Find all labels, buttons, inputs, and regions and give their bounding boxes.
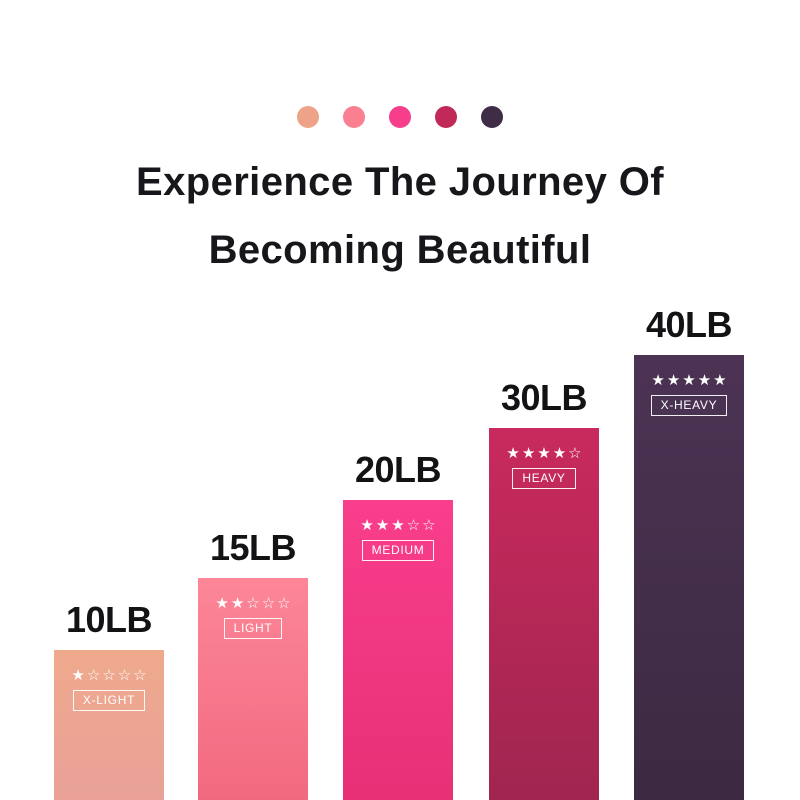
bar-group[interactable]: 30LB★★★★☆HEAVY — [489, 428, 599, 800]
bar-group[interactable]: 15LB★★☆☆☆LIGHT — [198, 578, 308, 800]
resistance-badge: X-LIGHT — [73, 690, 145, 711]
star-empty-icon: ☆ — [87, 668, 100, 683]
star-empty-icon: ☆ — [407, 518, 420, 533]
star-empty-icon: ☆ — [118, 668, 131, 683]
star-filled-icon: ★ — [682, 373, 695, 388]
star-filled-icon: ★ — [522, 446, 535, 461]
star-filled-icon: ★ — [553, 446, 566, 461]
star-filled-icon: ★ — [360, 518, 373, 533]
bar-content: ★☆☆☆☆X-LIGHT — [54, 668, 164, 711]
star-empty-icon: ☆ — [246, 596, 259, 611]
star-empty-icon: ☆ — [133, 668, 146, 683]
bar-value-label: 20LB — [343, 452, 453, 500]
bar-content: ★★★☆☆MEDIUM — [343, 518, 453, 561]
bar-content: ★★★★★X-HEAVY — [634, 373, 744, 416]
star-rating: ★☆☆☆☆ — [71, 668, 146, 683]
star-empty-icon: ☆ — [422, 518, 435, 533]
resistance-badge: X-HEAVY — [651, 395, 728, 416]
star-filled-icon: ★ — [506, 446, 519, 461]
star-filled-icon: ★ — [71, 668, 84, 683]
bar-value-label: 10LB — [54, 602, 164, 650]
star-filled-icon: ★ — [215, 596, 228, 611]
star-filled-icon: ★ — [667, 373, 680, 388]
resistance-badge: HEAVY — [512, 468, 575, 489]
star-empty-icon: ☆ — [568, 446, 581, 461]
bar-group[interactable]: 10LB★☆☆☆☆X-LIGHT — [54, 650, 164, 800]
star-filled-icon: ★ — [537, 446, 550, 461]
resistance-badge: LIGHT — [224, 618, 283, 639]
star-rating: ★★☆☆☆ — [215, 596, 290, 611]
bar-rect: ★★★★☆HEAVY — [489, 428, 599, 800]
bar-group[interactable]: 20LB★★★☆☆MEDIUM — [343, 500, 453, 800]
star-empty-icon: ☆ — [277, 596, 290, 611]
star-filled-icon: ★ — [231, 596, 244, 611]
star-filled-icon: ★ — [376, 518, 389, 533]
star-filled-icon: ★ — [698, 373, 711, 388]
star-filled-icon: ★ — [651, 373, 664, 388]
star-rating: ★★★★☆ — [506, 446, 581, 461]
bar-rect: ★☆☆☆☆X-LIGHT — [54, 650, 164, 800]
resistance-badge: MEDIUM — [362, 540, 435, 561]
star-empty-icon: ☆ — [262, 596, 275, 611]
bar-rect: ★★☆☆☆LIGHT — [198, 578, 308, 800]
bar-group[interactable]: 40LB★★★★★X-HEAVY — [634, 355, 744, 800]
bar-rect: ★★★☆☆MEDIUM — [343, 500, 453, 800]
bar-content: ★★☆☆☆LIGHT — [198, 596, 308, 639]
star-empty-icon: ☆ — [102, 668, 115, 683]
bar-value-label: 30LB — [489, 380, 599, 428]
star-filled-icon: ★ — [391, 518, 404, 533]
bar-rect: ★★★★★X-HEAVY — [634, 355, 744, 800]
bar-content: ★★★★☆HEAVY — [489, 446, 599, 489]
star-rating: ★★★★★ — [651, 373, 726, 388]
resistance-band-bar-chart: 10LB★☆☆☆☆X-LIGHT15LB★★☆☆☆LIGHT20LB★★★☆☆M… — [0, 0, 800, 800]
bar-value-label: 15LB — [198, 530, 308, 578]
star-rating: ★★★☆☆ — [360, 518, 435, 533]
bar-value-label: 40LB — [634, 307, 744, 355]
star-filled-icon: ★ — [713, 373, 726, 388]
